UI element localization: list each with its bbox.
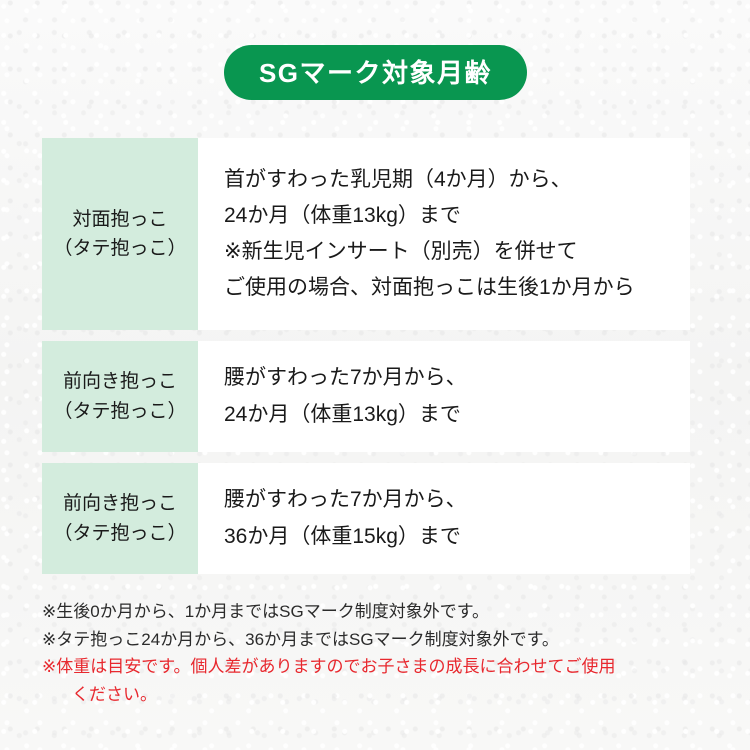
row-label-line: 前向き抱っこ [63,367,177,396]
row-body-line: 首がすわった乳児期（4か月）から、 [224,162,680,198]
sg-mark-age-table: 対面抱っこ （タテ抱っこ） 首がすわった乳児期（4か月）から、 24か月（体重1… [42,138,690,574]
table-row: 前向き抱っこ （タテ抱っこ） 腰がすわった7か月から、 36か月（体重15kg）… [42,463,690,574]
footnote-item-highlight: ※体重は目安です。個人差がありますのでお子さまの成長に合わせてご使用 ください。 [42,653,722,708]
row-body-line: 24か月（体重13kg）まで [224,198,680,234]
footnote-highlight-second: ください。 [42,681,722,709]
footnote-item: ※タテ抱っこ24か月から、36か月まではSGマーク制度対象外です。 [42,626,722,654]
row-body-line: 腰がすわった7か月から、 [224,482,680,518]
row-label-cell: 前向き抱っこ （タテ抱っこ） [42,341,198,452]
row-body-line: 24か月（体重13kg）まで [224,397,680,433]
row-body-line: ご使用の場合、対面抱っこは生後1か月から [224,270,680,306]
row-body-line: 36か月（体重15kg）まで [224,519,680,555]
section-header-pill: SGマーク対象月齢 [224,45,527,100]
footnote-item: ※生後0か月から、1か月まではSGマーク制度対象外です。 [42,598,722,626]
row-label-cell: 対面抱っこ （タテ抱っこ） [42,138,198,330]
row-label-cell: 前向き抱っこ （タテ抱っこ） [42,463,198,574]
page-title: SGマーク対象月齢 [259,60,492,86]
row-label-line: （タテ抱っこ） [53,519,186,548]
table-row: 対面抱っこ （タテ抱っこ） 首がすわった乳児期（4か月）から、 24か月（体重1… [42,138,690,330]
row-body-cell: 腰がすわった7か月から、 24か月（体重13kg）まで [198,341,690,452]
row-body-line: ※新生児インサート（別売）を併せて [224,234,680,270]
row-body-cell: 腰がすわった7か月から、 36か月（体重15kg）まで [198,463,690,574]
row-body-line: 腰がすわった7か月から、 [224,360,680,396]
row-label-line: （タテ抱っこ） [53,397,186,426]
table-row: 前向き抱っこ （タテ抱っこ） 腰がすわった7か月から、 24か月（体重13kg）… [42,341,690,452]
row-body-cell: 首がすわった乳児期（4か月）から、 24か月（体重13kg）まで ※新生児インサ… [198,138,690,330]
row-label-line: （タテ抱っこ） [53,234,186,263]
row-label-line: 対面抱っこ [72,205,167,234]
footnote-highlight-first: ※体重は目安です。個人差がありますのでお子さまの成長に合わせてご使用 [42,657,616,676]
footnotes: ※生後0か月から、1か月まではSGマーク制度対象外です。 ※タテ抱っこ24か月か… [42,598,722,708]
row-label-line: 前向き抱っこ [63,489,177,518]
